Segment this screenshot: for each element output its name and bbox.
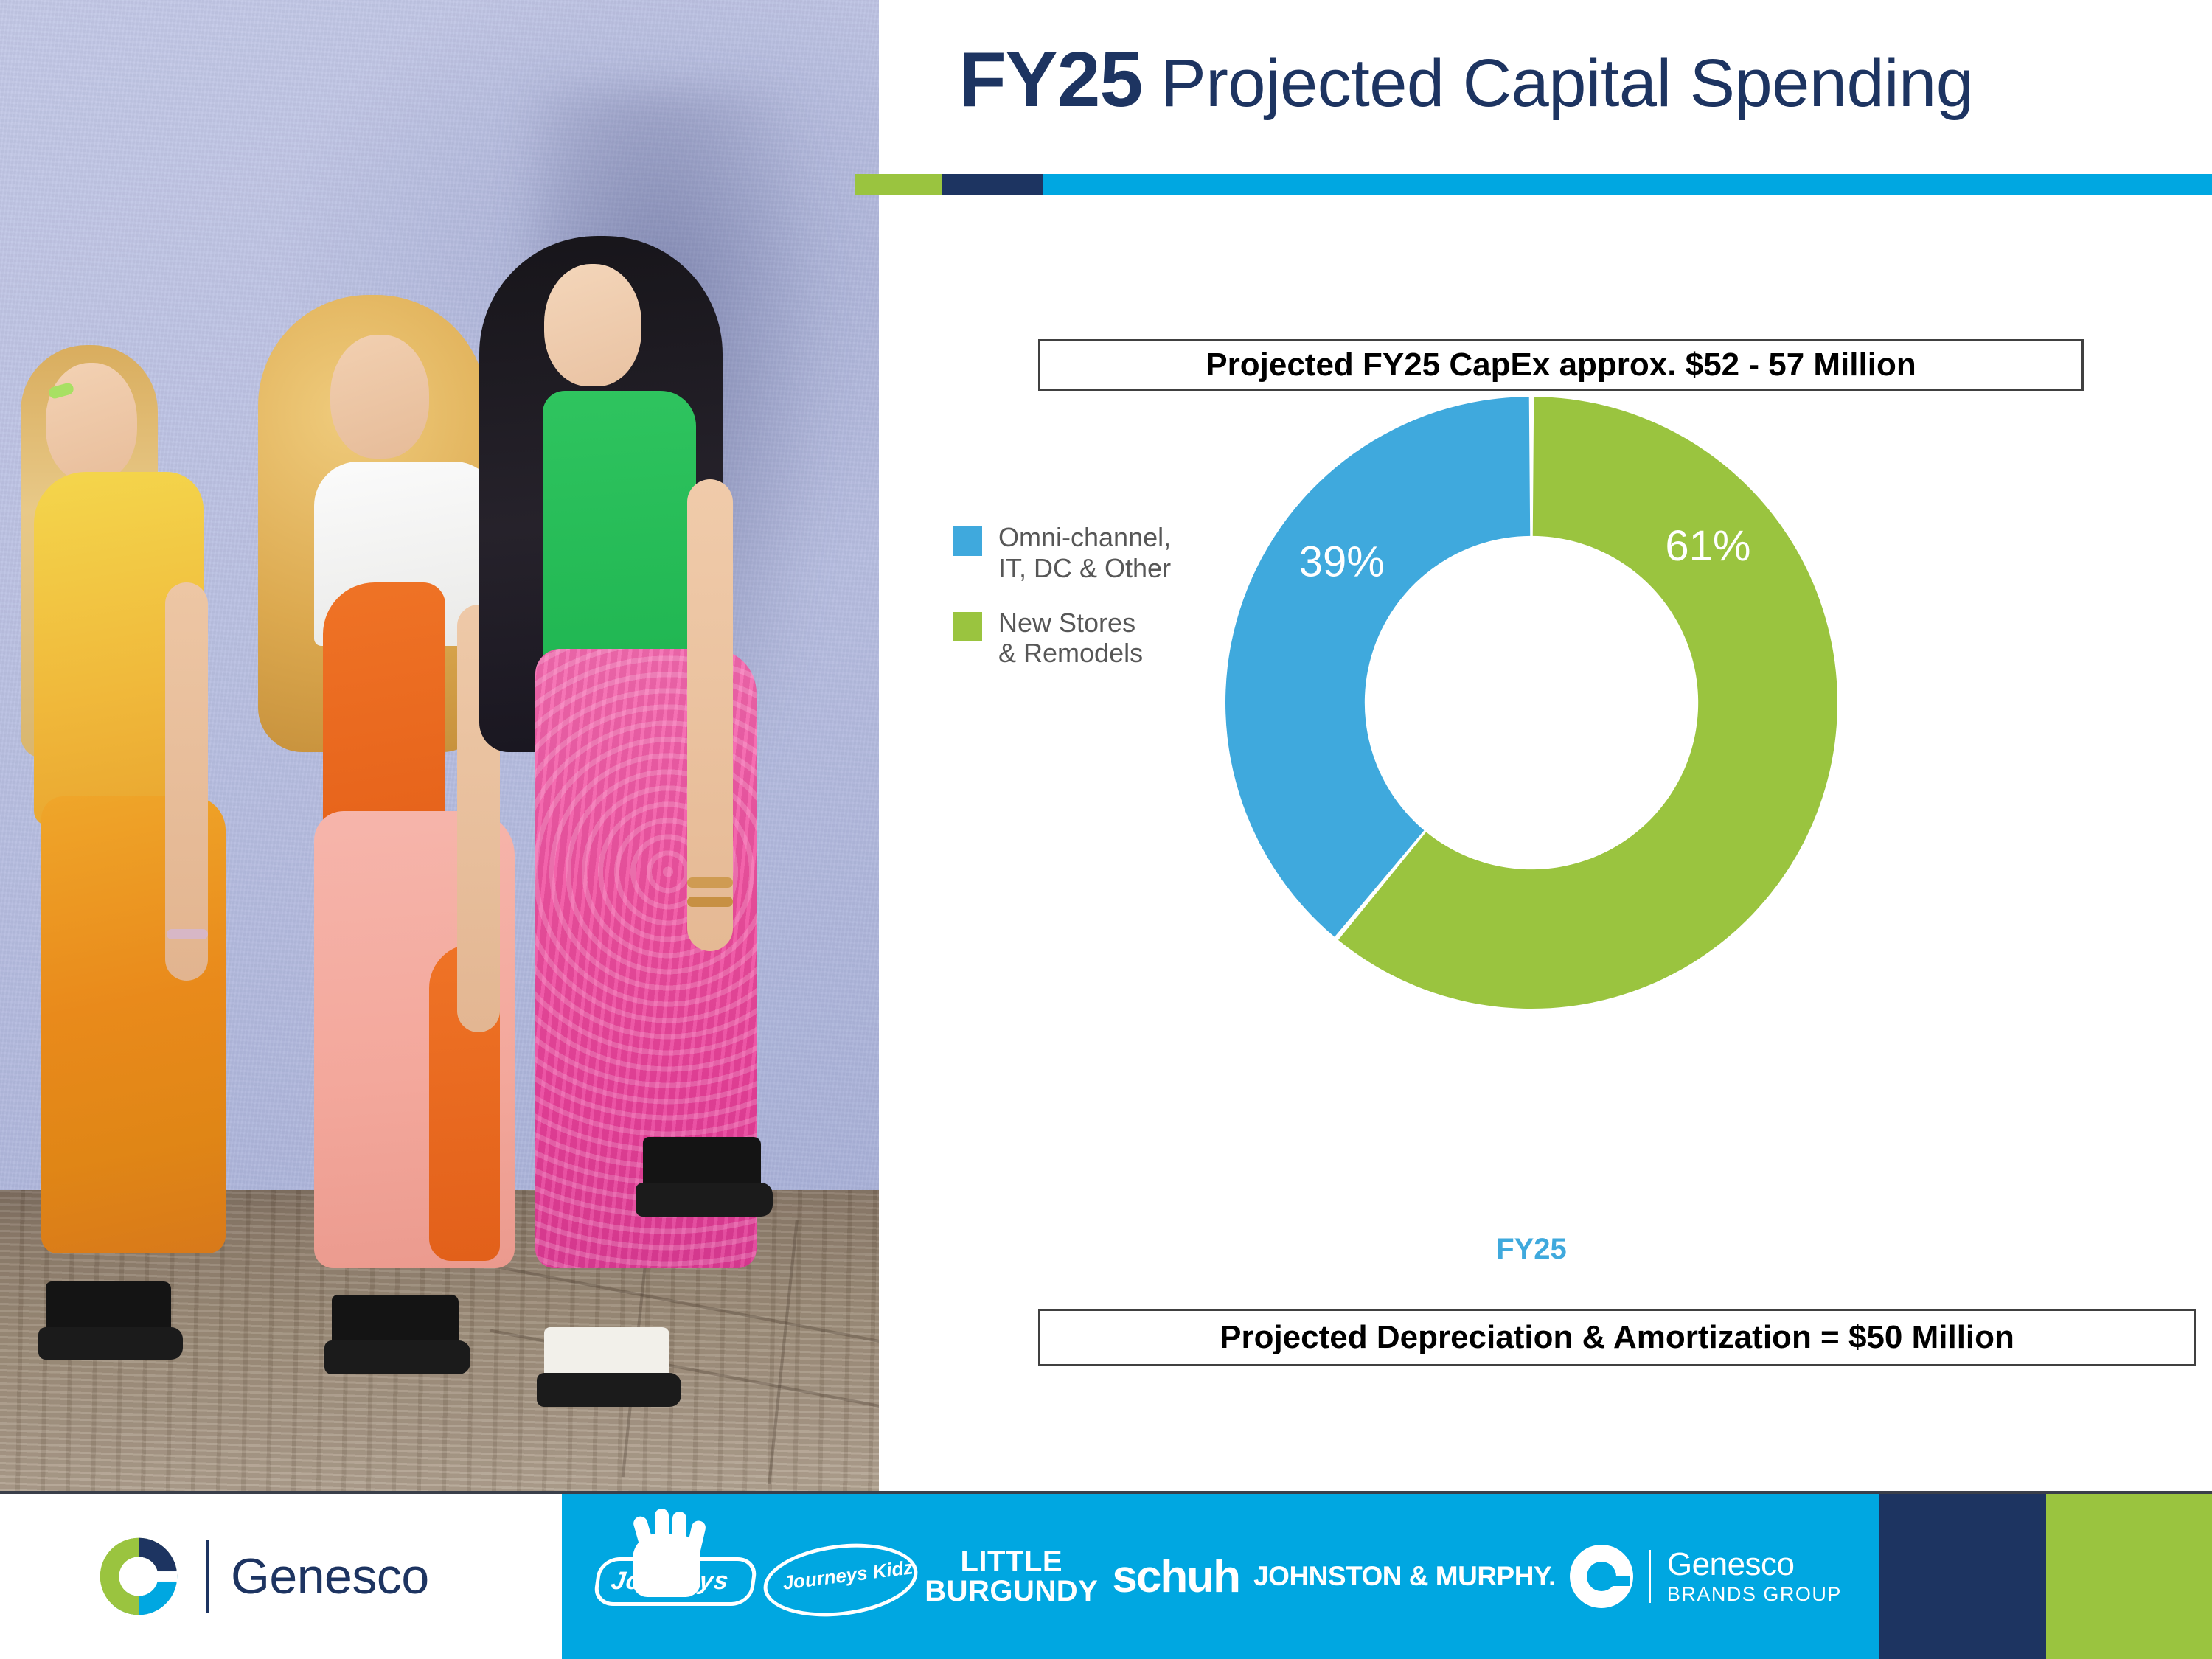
legend-item-omnichannel: Omni-channel, IT, DC & Other [953,522,1262,584]
donut-label-blue: 39% [1299,538,1385,586]
hand-finger [684,1520,707,1562]
brand-logo-journeys: Journeys [594,1532,749,1621]
hand-finger [655,1509,669,1548]
genesco-wordmark: Genesco [231,1548,429,1605]
brand-logo-schuh: schuh [1112,1551,1239,1603]
model-shoe-sole [636,1183,773,1217]
donut-chart-svg: 61% 39% [1225,397,1837,1009]
legend-item-new-stores: New Stores & Remodels [953,608,1262,669]
depreciation-callout-text: Projected Depreciation & Amortization = … [1220,1319,2014,1356]
chart-caption: FY25 [1225,1233,1837,1266]
title-rest: Projected Capital Spending [1142,46,1973,121]
accent-bar-blue [1043,174,2212,195]
footer-logo-area: Genesco [0,1494,562,1659]
genesco-g-svg [96,1534,181,1619]
legend-swatch-blue [953,526,982,556]
bracelet [167,929,208,939]
brand-logo-journeys-kidz: Journeys Kidz [763,1536,911,1617]
brand-logo-genesco-brands-group: Genesco BRANDS GROUP [1570,1545,1842,1608]
journeys-script-outline: Journeys [592,1557,758,1606]
hand-finger [632,1514,656,1557]
gbg-divider [1649,1550,1651,1603]
brand-logo-little-burgundy: LITTLE BURGUNDY [925,1547,1098,1606]
model-head [46,363,137,482]
donut-label-green: 61% [1665,522,1750,570]
legend-label-omnichannel: Omni-channel, IT, DC & Other [998,522,1171,584]
footer: Genesco Journeys Journeys Kidz [0,1491,2212,1659]
donut-chart: 61% 39% [1225,397,1837,1009]
hero-photo [0,0,879,1491]
genesco-logo: Genesco [96,1534,429,1619]
capex-callout: Projected FY25 CapEx approx. $52 - 57 Mi… [1038,339,2084,391]
gbg-line1: Genesco [1667,1548,1842,1581]
little-burgundy-line2: BURGUNDY [925,1576,1098,1606]
logo-divider [206,1540,209,1613]
footer-block-navy [1879,1494,2046,1659]
genesco-g-icon [96,1534,181,1619]
slide-root: FY25 Projected Capital Spending Projecte… [0,0,2212,1659]
gbg-wordmark: Genesco BRANDS GROUP [1667,1548,1842,1604]
accent-bar-navy [942,174,1043,195]
legend-swatch-green [953,612,982,641]
content-panel: FY25 Projected Capital Spending Projecte… [879,0,2212,1491]
capex-callout-text: Projected FY25 CapEx approx. $52 - 57 Mi… [1206,347,1916,383]
model-head [544,264,641,386]
legend-label-new-stores: New Stores & Remodels [998,608,1143,669]
hand-finger [672,1512,686,1551]
little-burgundy-line1: LITTLE [925,1547,1098,1576]
model-arm [165,582,208,981]
brand-logo-johnston-murphy: JOHNSTON & MURPHY. [1253,1561,1556,1592]
model-top [543,391,696,686]
footer-brand-strip: Journeys Journeys Kidz LITTLE BURGUNDY s… [562,1494,1879,1659]
model-right [413,236,826,1460]
gbg-line2: BRANDS GROUP [1667,1585,1842,1604]
accent-bar [855,174,2212,195]
bracelet [687,897,733,907]
model-shoe-sole [38,1327,183,1360]
gbg-g-icon [1570,1545,1633,1608]
chart-legend: Omni-channel, IT, DC & Other New Stores … [953,522,1262,692]
journeys-wordmark: Journeys [609,1567,731,1596]
accent-bar-green [855,174,942,195]
depreciation-callout: Projected Depreciation & Amortization = … [1038,1309,2196,1366]
donut-slice-blue [1225,397,1530,937]
bracelet [687,877,733,888]
title-fy: FY25 [959,36,1142,123]
page-title: FY25 Projected Capital Spending [959,35,1973,125]
model-shoe-sole [537,1373,681,1407]
footer-block-green [2046,1494,2212,1659]
